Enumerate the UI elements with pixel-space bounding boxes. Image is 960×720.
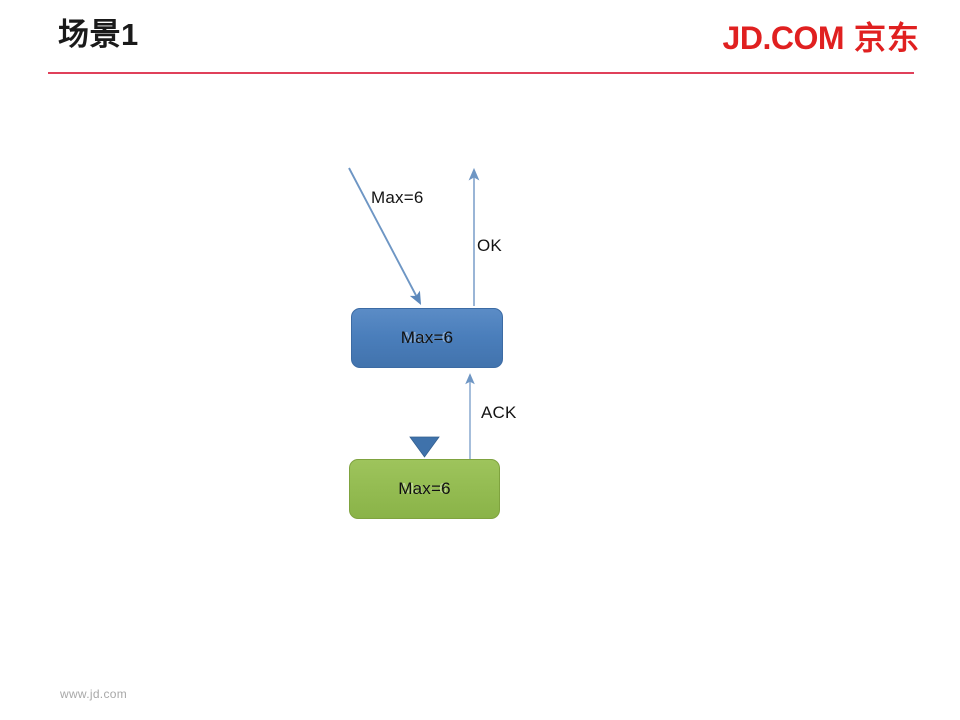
- header-divider: [48, 72, 914, 74]
- node-server-box[interactable]: Max=6 Max=6: [351, 308, 503, 368]
- node-server-label: Max=6: [401, 328, 454, 348]
- brand-latin-text: JD.COM: [723, 20, 844, 56]
- page-title: 场景1: [58, 16, 139, 55]
- edge-label-ack: ACK: [481, 403, 517, 423]
- node-client-box[interactable]: Max=6 Max=6: [349, 459, 500, 519]
- node-client-label: Max=6: [398, 479, 451, 499]
- brand-chinese-text: 京东: [854, 20, 920, 56]
- footer-url: www.jd.com: [60, 687, 127, 701]
- edge-label-incoming-max: Max=6: [371, 188, 424, 208]
- edge-server-to-client-arrow: [410, 369, 439, 457]
- jd-brand-logo: JD.COM京东: [723, 18, 920, 58]
- slide-canvas: 场景1 JD.COM京东: [0, 0, 960, 720]
- edge-label-ok: OK: [477, 236, 502, 256]
